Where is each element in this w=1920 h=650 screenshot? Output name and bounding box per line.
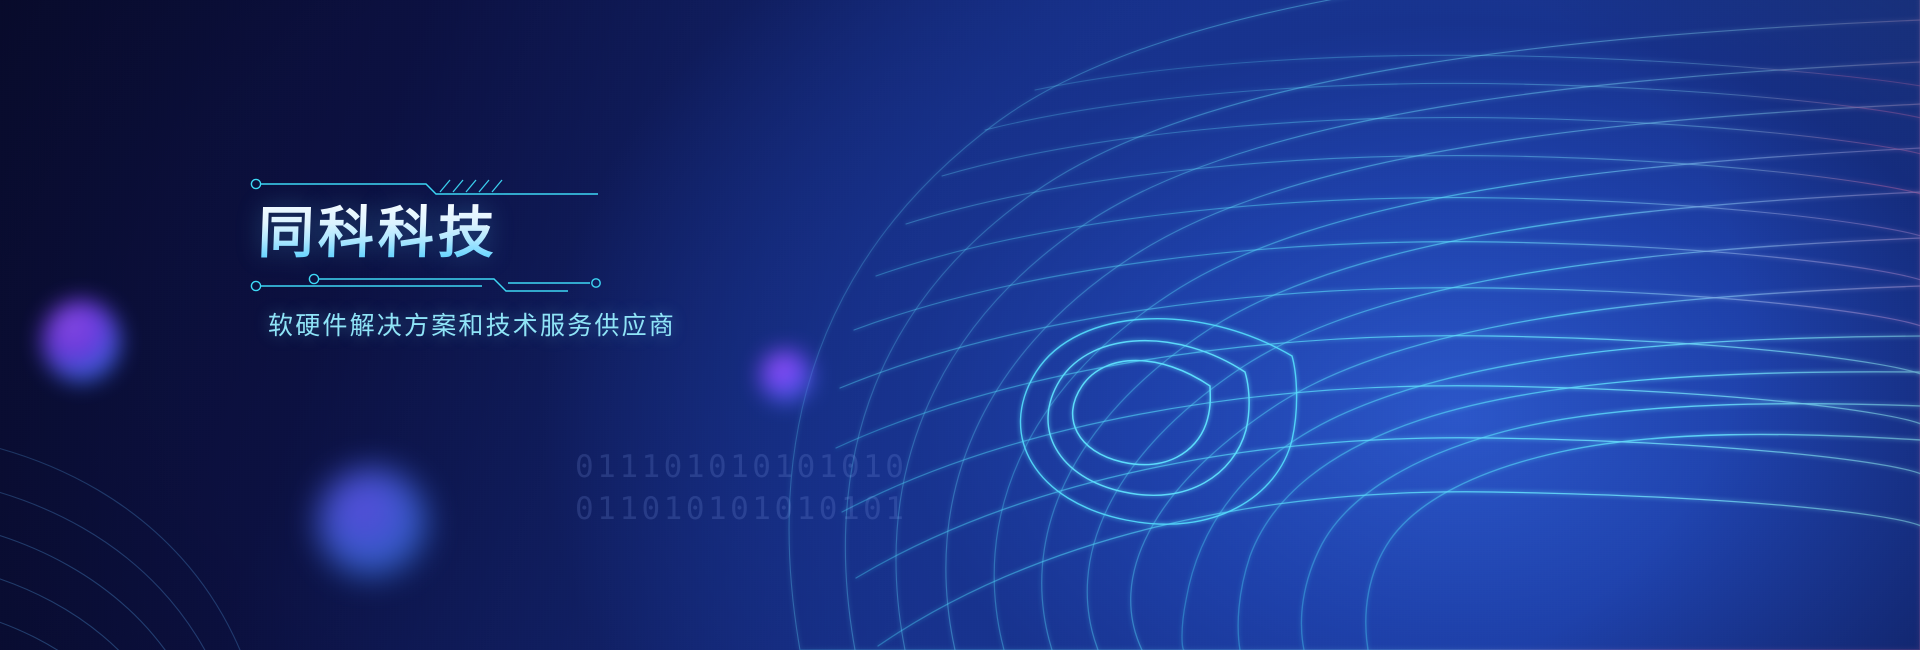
glow-orb-bottom [318,468,426,576]
hero-banner: 011101010101010 011010101010101 [0,0,1920,650]
page-title: 同科科技 [257,202,671,264]
page-subtitle: 软硬件解决方案和技术服务供应商 [268,306,676,342]
circuit-rule-bottom [250,274,670,288]
brand-title-wrap: 同科科技 [258,202,670,264]
circuit-rule-top [250,176,670,190]
binary-line-1: 011101010101010 [575,449,907,485]
brand-block: 同科科技 [250,176,670,288]
binary-code-decoration: 011101010101010 011010101010101 [575,446,907,530]
glow-orb-center [760,350,812,402]
glow-orb-left [42,300,120,382]
binary-line-2: 011010101010101 [575,491,907,527]
